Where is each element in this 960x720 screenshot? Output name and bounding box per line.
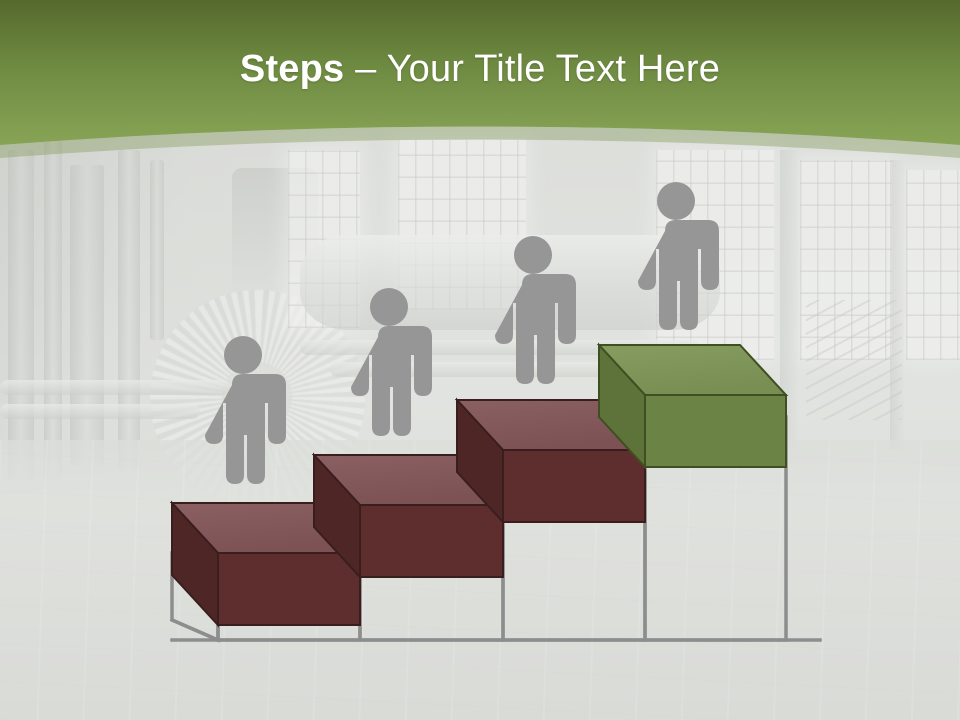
step-1-front-face <box>218 553 360 625</box>
page-title-rest: Your Title Text Here <box>387 48 721 90</box>
header-band: Steps – Your Title Text Here <box>0 0 960 175</box>
person-figure-2 <box>351 288 432 436</box>
person-figure-4 <box>638 182 719 330</box>
step-block-4[interactable] <box>599 345 786 467</box>
slide-canvas: Steps – Your Title Text Here <box>0 0 960 720</box>
page-title-bold: Steps <box>240 48 344 90</box>
page-title: Steps – Your Title Text Here <box>0 48 960 91</box>
person-figure-3 <box>495 236 576 384</box>
pedestal-diagonal-1 <box>172 620 218 640</box>
page-title-dash: – <box>344 48 386 90</box>
step-3-front-face <box>503 450 645 522</box>
step-2-front-face <box>360 505 503 577</box>
person-figure-1 <box>205 336 286 484</box>
step-4-front-face <box>645 395 786 467</box>
